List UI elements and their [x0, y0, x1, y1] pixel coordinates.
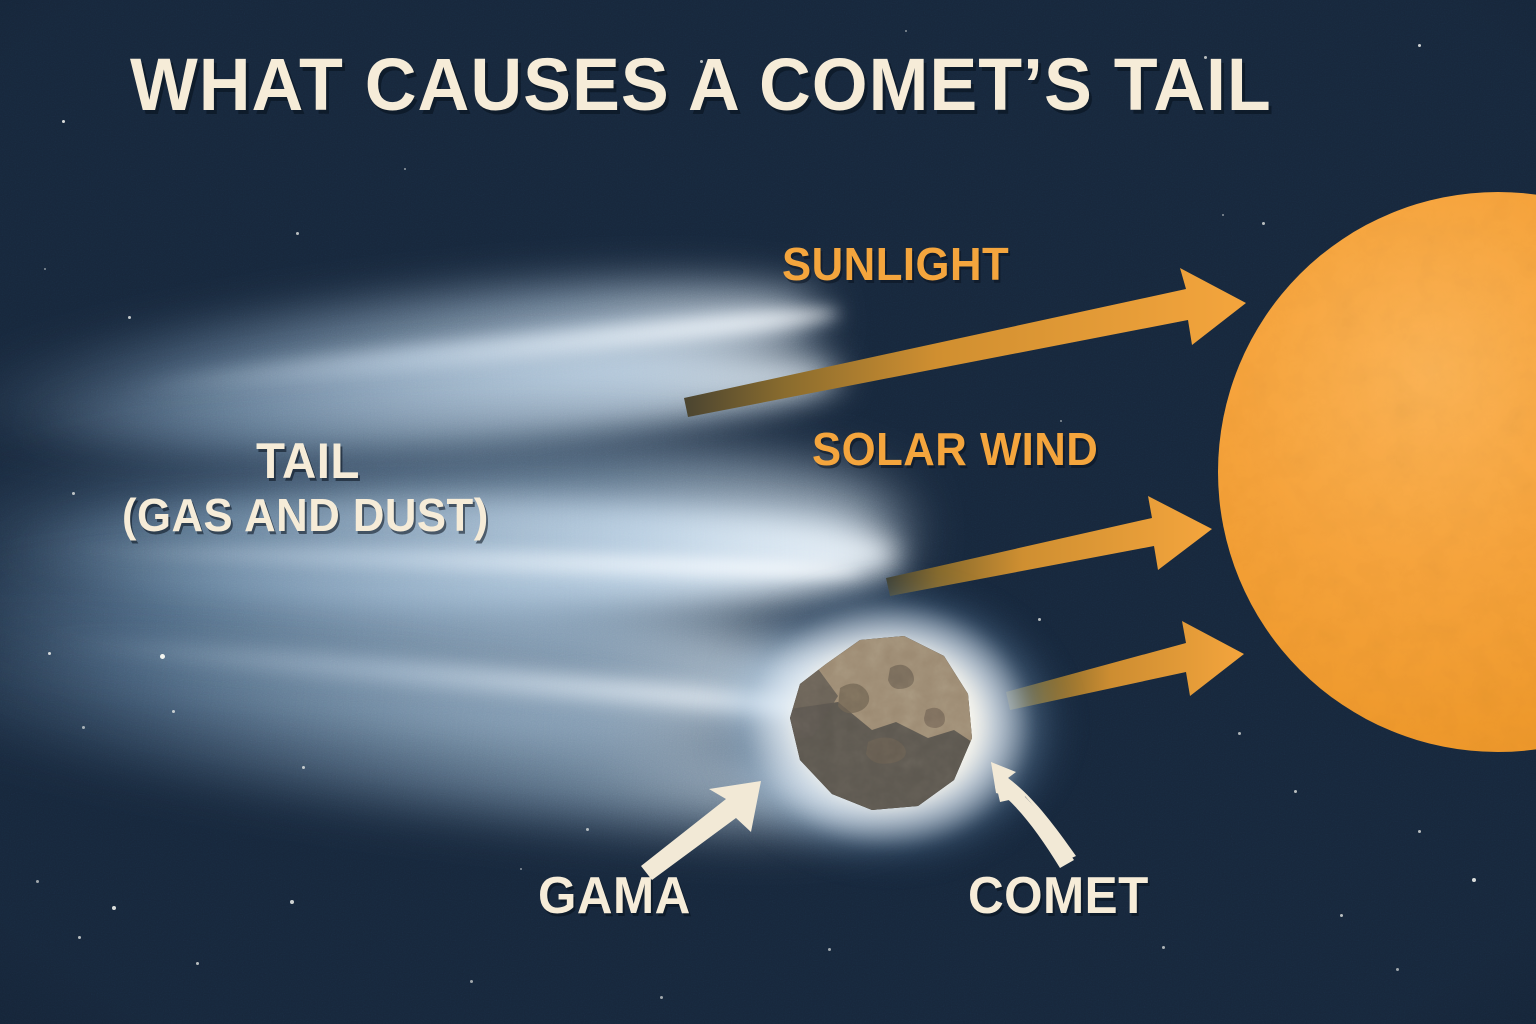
label-tail-sub: (GAS AND DUST) — [122, 488, 489, 542]
comet-pointer-arrow — [991, 762, 1076, 868]
label-sunlight: SUNLIGHT — [782, 237, 1009, 291]
comet-infographic: WHAT CAUSES A COMET’S TAIL SUNLIGHT SOLA… — [0, 0, 1536, 1024]
label-solar-wind: SOLAR WIND — [812, 422, 1098, 476]
label-comet: COMET — [968, 866, 1149, 926]
label-gama: GAMA — [538, 866, 691, 926]
page-title: WHAT CAUSES A COMET’S TAIL — [130, 48, 1272, 122]
label-tail: TAIL — [256, 432, 360, 490]
